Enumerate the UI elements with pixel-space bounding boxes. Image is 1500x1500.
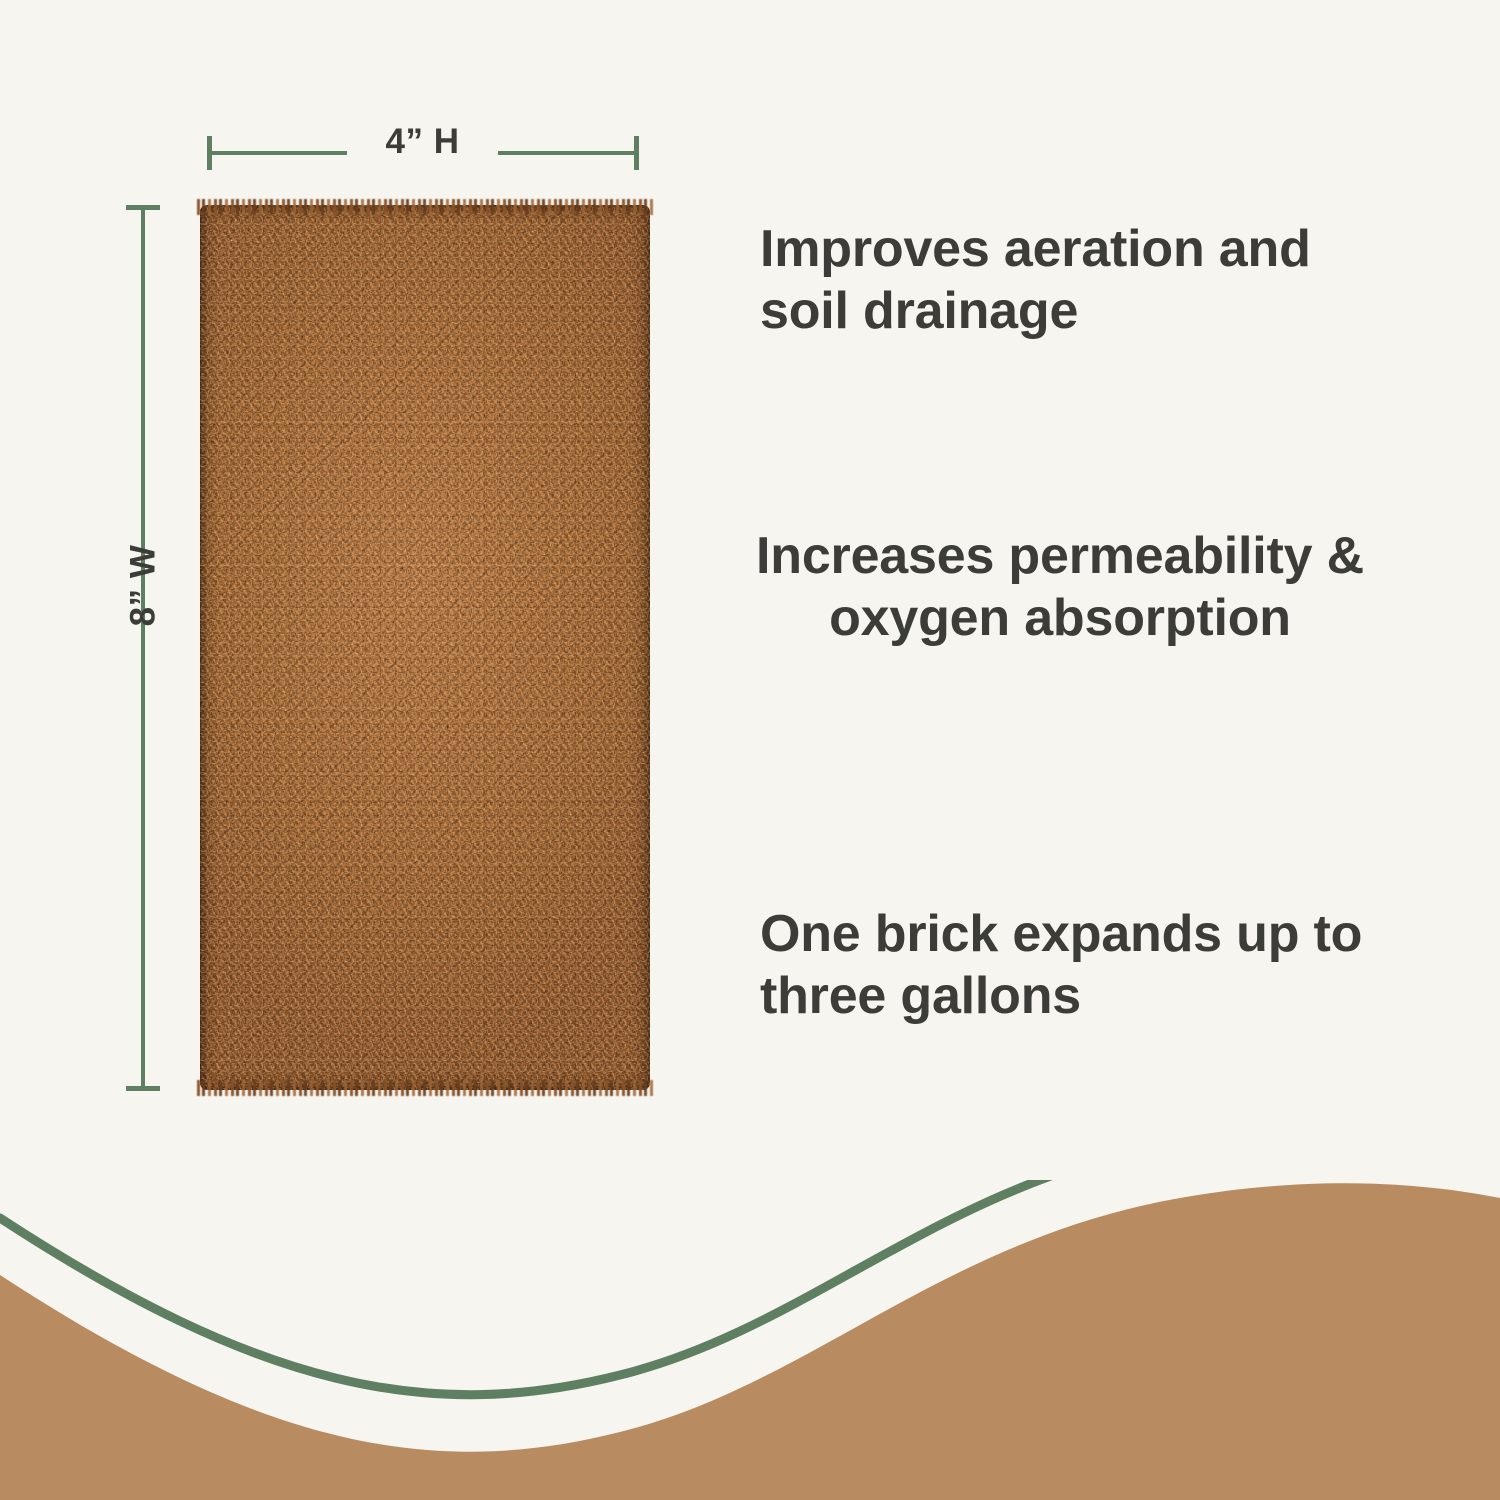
dimension-label-width: 8” W — [126, 506, 161, 666]
ruler-horizontal-left-line — [207, 151, 347, 155]
benefit-text-1: Improves aeration and soil drainage — [760, 218, 1370, 343]
ruler-horizontal-right-line — [498, 151, 638, 155]
coir-brick-image — [200, 205, 650, 1090]
coir-brick-texture — [200, 205, 650, 1090]
ruler-vertical-bottom-cap — [126, 1086, 160, 1091]
ruler-vertical-top-cap — [126, 205, 160, 210]
benefit-text-2: Increases permeability & oxygen absorpti… — [750, 525, 1370, 650]
coir-brick-top-rim — [197, 199, 653, 215]
product-infographic: 4” H 8” W Improves aeration and soil dra… — [0, 0, 1500, 1500]
benefit-text-3: One brick expands up to three gallons — [760, 903, 1370, 1028]
decorative-wave — [0, 1180, 1500, 1500]
ruler-horizontal-left-cap — [207, 136, 212, 170]
coir-brick-bottom-rim — [197, 1080, 653, 1096]
coir-brick-grain-overlay — [200, 205, 650, 1090]
dimension-label-height: 4” H — [347, 124, 498, 159]
ruler-horizontal-right-cap — [634, 136, 639, 170]
